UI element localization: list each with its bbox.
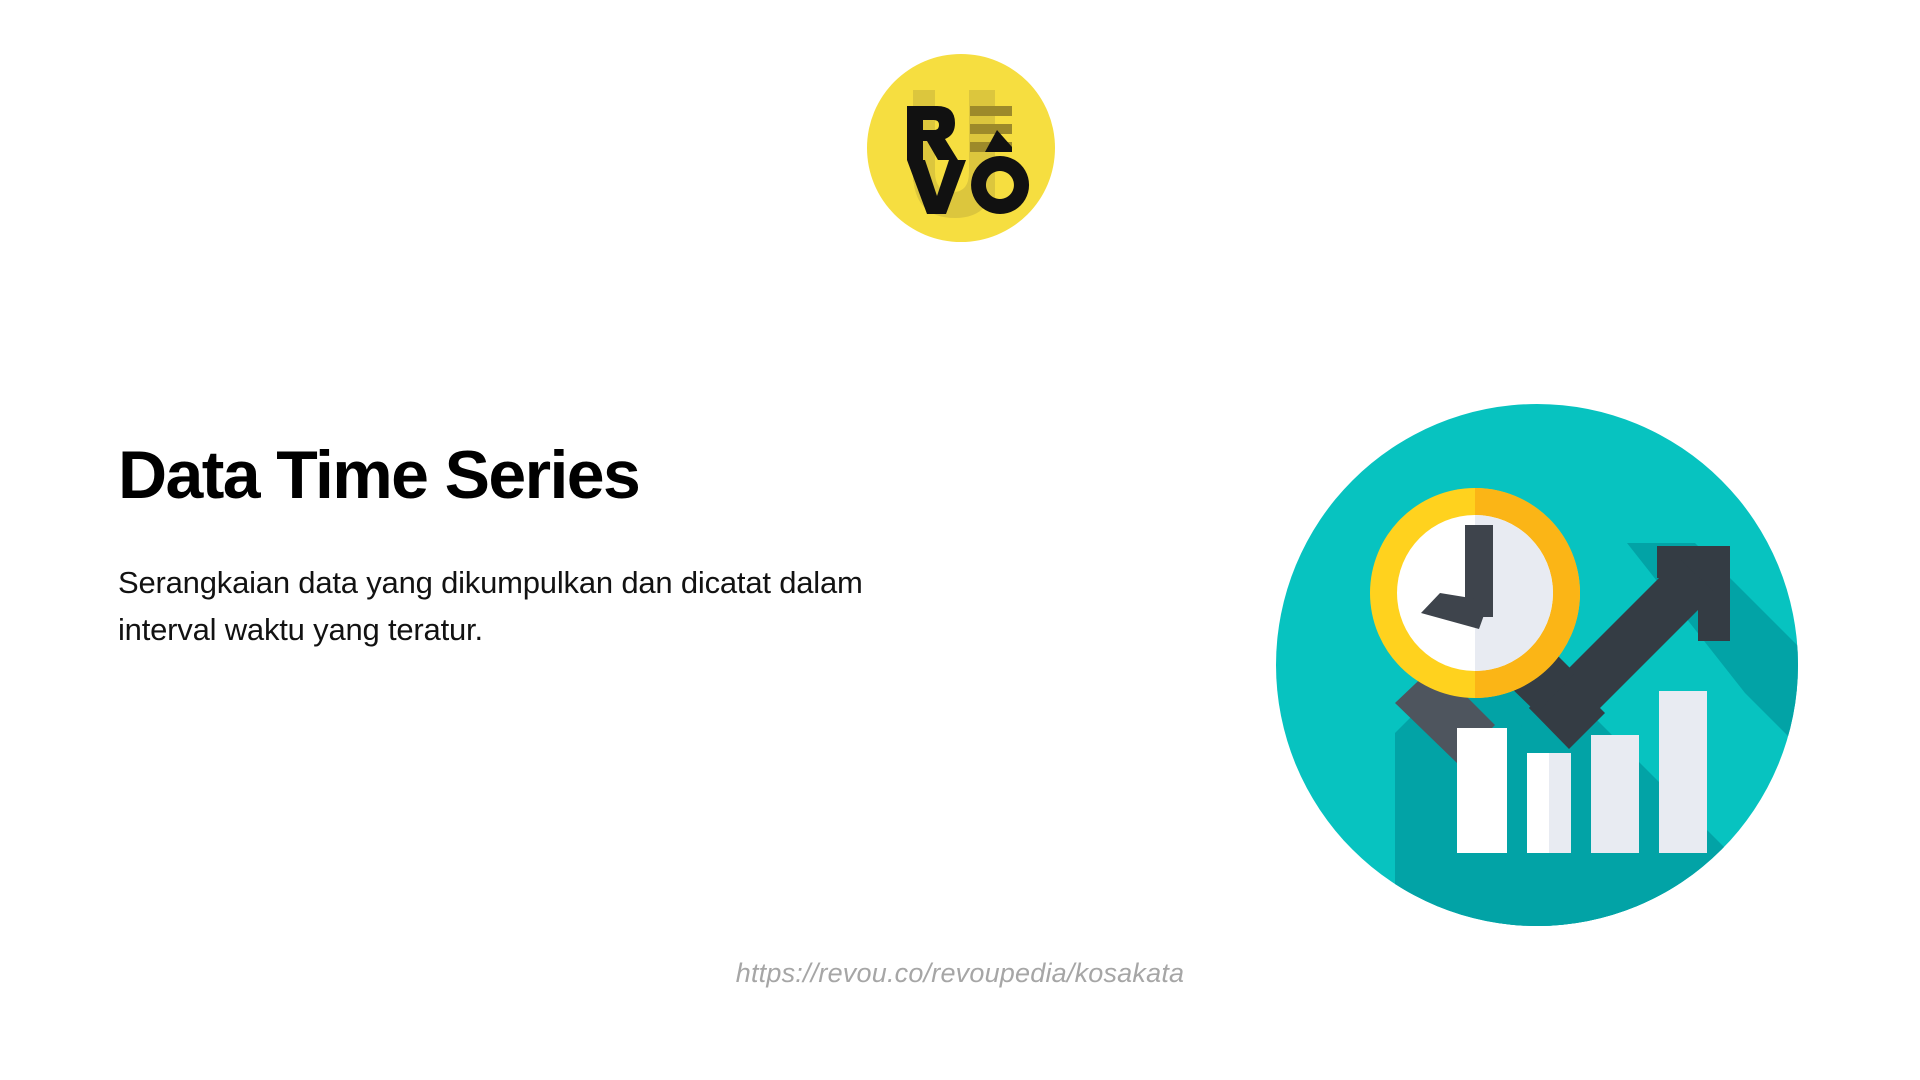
clock-magnifier bbox=[1370, 488, 1580, 698]
bar-1 bbox=[1457, 728, 1507, 853]
bar-2 bbox=[1527, 753, 1571, 853]
logo-letter-e-bar-2 bbox=[970, 124, 1012, 134]
logo-letter-e-bar-1 bbox=[970, 106, 1012, 116]
text-column: Data Time Series Serangkaian data yang d… bbox=[118, 440, 1058, 653]
page-title: Data Time Series bbox=[118, 440, 1058, 511]
slide-canvas: Data Time Series Serangkaian data yang d… bbox=[0, 0, 1920, 1080]
revou-logo bbox=[865, 52, 1057, 244]
bar-4 bbox=[1659, 691, 1707, 853]
bar-3 bbox=[1591, 735, 1639, 853]
time-series-illustration bbox=[1275, 403, 1799, 927]
source-url[interactable]: https://revou.co/revoupedia/kosakata bbox=[0, 958, 1920, 989]
definition-text: Serangkaian data yang dikumpulkan dan di… bbox=[118, 559, 908, 653]
